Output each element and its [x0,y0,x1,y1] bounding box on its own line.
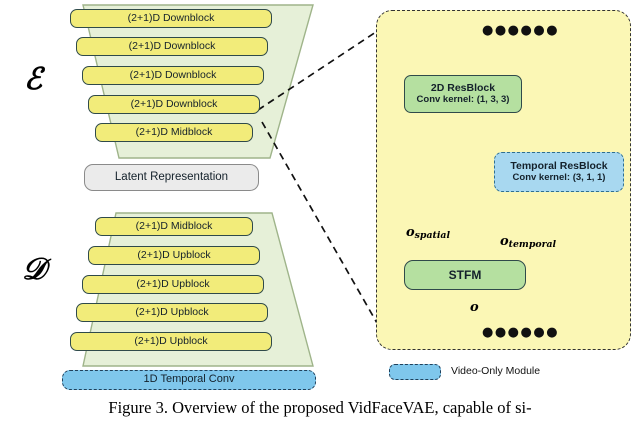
decoder-block-3-label: (2+1)D Upblock [135,307,208,318]
decoder-block-1[interactable]: (2+1)D Upblock [88,246,260,265]
encoder-block-3-label: (2+1)D Downblock [131,99,218,110]
zoom-connector-lower [262,122,385,337]
decoder-symbol: 𝒟 [22,252,46,287]
decoder-block-0[interactable]: (2+1)D Midblock [95,217,253,236]
label-o-output: o [470,300,479,315]
stfm-block[interactable]: STFM [404,260,526,290]
detail-bottom-ellipsis: ●●●●●● [482,326,559,339]
encoder-block-0[interactable]: (2+1)D Downblock [70,9,272,28]
decoder-block-1-label: (2+1)D Upblock [137,250,210,261]
decoder-block-2[interactable]: (2+1)D Upblock [82,275,264,294]
decoder-block-4-label: (2+1)D Upblock [134,336,207,347]
figure-root: ℰ (2+1)D Downblock (2+1)D Downblock (2+1… [0,0,640,421]
encoder-block-2[interactable]: (2+1)D Downblock [82,66,264,85]
zoom-connector-upper [258,28,382,110]
encoder-block-2-label: (2+1)D Downblock [130,70,217,81]
label-o-spatial-sub: spatial [415,230,450,241]
legend-label-video-only: Video-Only Module [451,365,540,377]
label-o-spatial: ospatial [406,225,450,241]
temporal-conv-label: 1D Temporal Conv [144,374,235,386]
resblock-temporal-subtitle: Conv kernel: (3, 1, 1) [513,173,606,183]
label-o-temporal-main: o [500,234,509,249]
latent-representation-label: Latent Representation [115,171,228,183]
detail-top-ellipsis: ●●●●●● [482,24,559,37]
encoder-symbol: ℰ [24,62,42,97]
encoder-block-4-label: (2+1)D Midblock [136,127,213,138]
label-o-spatial-main: o [406,225,415,240]
encoder-block-3[interactable]: (2+1)D Downblock [88,95,260,114]
resblock-2d[interactable]: 2D ResBlock Conv kernel: (1, 3, 3) [404,75,522,113]
legend-swatch-video-only [389,364,441,380]
decoder-block-0-label: (2+1)D Midblock [136,221,213,232]
resblock-2d-subtitle: Conv kernel: (1, 3, 3) [417,95,510,105]
label-o-temporal: otemporal [500,234,556,250]
figure-caption: Figure 3. Overview of the proposed VidFa… [0,398,640,418]
encoder-block-4[interactable]: (2+1)D Midblock [95,123,253,142]
resblock-2d-title: 2D ResBlock [431,83,495,94]
temporal-conv-block[interactable]: 1D Temporal Conv [62,370,316,390]
stfm-label: STFM [449,269,482,282]
encoder-block-0-label: (2+1)D Downblock [128,13,215,24]
encoder-block-1[interactable]: (2+1)D Downblock [76,37,268,56]
resblock-temporal-title: Temporal ResBlock [510,161,607,172]
decoder-block-2-label: (2+1)D Upblock [136,279,209,290]
encoder-block-1-label: (2+1)D Downblock [129,41,216,52]
latent-representation-box[interactable]: Latent Representation [84,164,259,191]
decoder-block-4[interactable]: (2+1)D Upblock [70,332,272,351]
label-o-temporal-sub: temporal [509,239,556,250]
decoder-block-3[interactable]: (2+1)D Upblock [76,303,268,322]
resblock-temporal[interactable]: Temporal ResBlock Conv kernel: (3, 1, 1) [494,152,624,192]
